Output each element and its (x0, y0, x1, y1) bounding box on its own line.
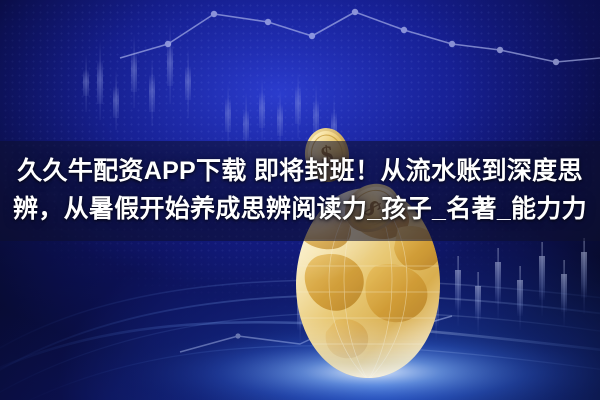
promo-banner: $ $ 久久牛配资APP下载 即将封班！从流水账到深度思辨，从暑假开始养成思辨阅… (0, 0, 600, 400)
headline-text: 久久牛配资APP下载 即将封班！从流水账到深度思辨，从暑假开始养成思辨阅读力_孩… (0, 152, 600, 228)
